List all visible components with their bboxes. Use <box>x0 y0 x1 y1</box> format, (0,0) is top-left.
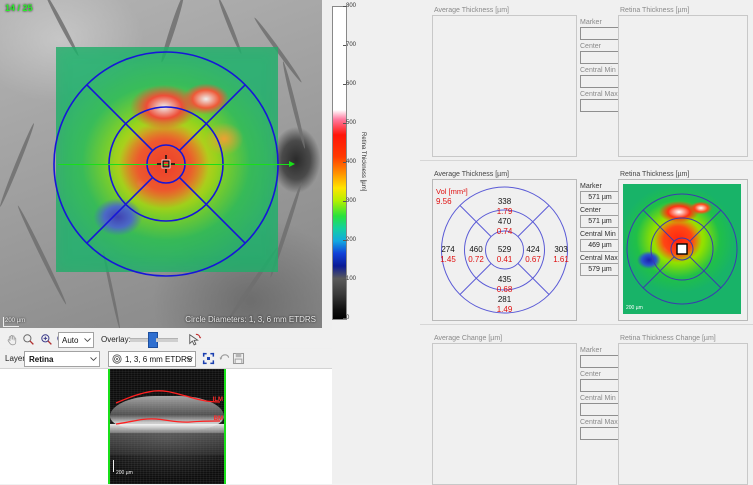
sector-inner-superior-volume: 0.74 <box>497 227 513 236</box>
central-min-label-bottom: Central Min <box>580 395 616 402</box>
avg-thickness-title-top: Average Thickness [µm] <box>432 7 511 14</box>
circle-diameters-caption: Circle Diameters: 1, 3, 6 mm ETDRS <box>185 315 316 324</box>
pointer-tool-icon[interactable] <box>188 333 202 347</box>
colorbar-tick: 500 <box>346 120 356 126</box>
central-min-label: Central Min <box>580 231 616 238</box>
grid-select[interactable]: 1, 3, 6 mm ETDRS <box>108 351 196 367</box>
bm-label: BM <box>214 416 223 422</box>
chevron-down-icon[interactable] <box>186 356 193 362</box>
magnifier-icon[interactable] <box>22 333 35 346</box>
undo-icon[interactable] <box>218 352 231 365</box>
bscan-area: ILM BM 200 µm <box>0 368 332 484</box>
central-max-label: Central Max <box>580 255 618 262</box>
colorbar-title: Retina Thickness [µm] <box>360 132 366 191</box>
etdrs-grid-chart: 338 1.79 470 0.74 274 1.45 460 0.72 529 … <box>433 180 576 320</box>
sector-outer-nasal-volume: 1.61 <box>553 255 569 264</box>
central-max-label-top: Central Max <box>580 91 618 98</box>
chevron-down-icon[interactable] <box>90 356 97 362</box>
volume-label: Vol [mm³] <box>436 187 468 196</box>
marker-field-bottom[interactable] <box>580 355 620 368</box>
sector-inner-temporal-thickness: 460 <box>469 245 483 254</box>
minimap-center-marker <box>677 244 687 254</box>
ilm-label: ILM <box>213 397 223 403</box>
sector-inner-nasal-volume: 0.67 <box>525 255 541 264</box>
avg-change-box <box>432 343 577 485</box>
colorbar: 800 700 600 500 400 300 200 100 0 Retina… <box>330 4 382 326</box>
retina-change-box <box>618 343 748 485</box>
center-field-bottom[interactable] <box>580 379 620 392</box>
fundus-scale-bar: 200 µm <box>5 318 25 324</box>
center-label-bottom: Center <box>580 371 601 378</box>
central-min-field-bottom[interactable] <box>580 403 620 416</box>
bm-line <box>116 419 220 424</box>
layer-value: Retina <box>29 355 53 364</box>
sector-inner-inferior-volume: 0.68 <box>497 285 513 294</box>
retina-thickness-title-top: Retina Thickness [µm] <box>618 7 691 14</box>
overlay-label: Overlay: <box>101 335 131 344</box>
section-divider <box>420 160 753 161</box>
right-panel: Average Thickness [µm] Marker Center Cen… <box>420 0 753 483</box>
colorbar-tick: 0 <box>346 315 349 321</box>
sector-center-thickness: 529 <box>498 245 512 254</box>
central-min-field-top[interactable] <box>580 75 620 88</box>
ilm-line <box>116 391 220 403</box>
central-max-field-bottom[interactable] <box>580 427 620 440</box>
center-label: Center <box>580 207 601 214</box>
retina-thickness-box[interactable]: 200 µm <box>618 179 748 321</box>
colorbar-gradient <box>332 6 347 320</box>
fundus-thickness-map-viewport[interactable]: 14 / 25 Circle Diameters: 1, 3, 6 mm ETD… <box>0 0 322 328</box>
sector-outer-superior-thickness: 338 <box>498 197 512 206</box>
sector-center-volume: 0.41 <box>497 255 513 264</box>
bscan-right-marker <box>224 369 226 484</box>
colorbar-tick: 300 <box>346 198 356 204</box>
center-label-top: Center <box>580 43 601 50</box>
colorbar-tick: 100 <box>346 276 356 282</box>
sector-inner-nasal-thickness: 424 <box>526 245 540 254</box>
center-grid-icon[interactable] <box>202 352 215 365</box>
retina-thickness-minimap[interactable]: 200 µm <box>623 184 741 314</box>
avg-thickness-box-top <box>432 15 577 157</box>
chevron-down-icon[interactable] <box>84 337 91 343</box>
sector-inner-superior-thickness: 470 <box>498 217 512 226</box>
retina-change-title: Retina Thickness Change [µm] <box>618 335 718 342</box>
retina-thickness-box-top <box>618 15 748 157</box>
sector-outer-nasal-thickness: 303 <box>554 245 568 254</box>
layer-toolbar: Layer: Retina 1, 3, 6 mm ETDRS <box>0 349 332 367</box>
sector-outer-inferior-thickness: 281 <box>498 295 512 304</box>
minimap-scale-bar: 200 µm <box>626 305 643 311</box>
colorbar-tick: 600 <box>346 81 356 87</box>
colorbar-tick: 700 <box>346 42 356 48</box>
oct-bscan-image[interactable]: ILM BM 200 µm <box>110 369 224 484</box>
marker-field-top[interactable] <box>580 27 620 40</box>
minimap-etdrs-overlay <box>623 184 741 314</box>
zoom-mode-select[interactable]: Auto <box>58 332 94 348</box>
colorbar-tick: 400 <box>346 159 356 165</box>
marker-field[interactable]: 571 µm <box>580 191 620 204</box>
grid-value: 1, 3, 6 mm ETDRS <box>125 355 192 364</box>
avg-thickness-box[interactable]: 338 1.79 470 0.74 274 1.45 460 0.72 529 … <box>432 179 577 321</box>
central-max-field[interactable]: 579 µm <box>580 263 620 276</box>
bscan-left-marker <box>108 369 110 484</box>
center-field-top[interactable] <box>580 51 620 64</box>
sector-outer-superior-volume: 1.79 <box>497 207 513 216</box>
central-max-field-top[interactable] <box>580 99 620 112</box>
left-panel: 14 / 25 Circle Diameters: 1, 3, 6 mm ETD… <box>0 0 332 483</box>
sector-outer-inferior-volume: 1.49 <box>497 305 513 314</box>
etdrs-spoke <box>87 85 153 151</box>
layer-select[interactable]: Retina <box>24 351 100 367</box>
view-toolbar: Auto Overlay: <box>0 330 332 348</box>
avg-thickness-title: Average Thickness [µm] <box>432 171 511 178</box>
marker-label: Marker <box>580 183 602 190</box>
sector-outer-temporal-thickness: 274 <box>441 245 455 254</box>
colorbar-tick: 200 <box>346 237 356 243</box>
oct-analysis-window: 14 / 25 Circle Diameters: 1, 3, 6 mm ETD… <box>0 0 753 483</box>
marker-label-bottom: Marker <box>580 347 602 354</box>
etdrs-spoke <box>179 177 245 243</box>
zoom-in-icon[interactable] <box>40 333 53 346</box>
central-max-label-bottom: Central Max <box>580 419 618 426</box>
section-divider <box>420 324 753 325</box>
etdrs-spoke <box>87 177 153 243</box>
central-min-label-top: Central Min <box>580 67 616 74</box>
retina-thickness-title: Retina Thickness [µm] <box>618 171 691 178</box>
avg-change-title: Average Change [µm] <box>432 335 504 342</box>
frame-counter: 14 / 25 <box>5 3 33 13</box>
marker-label-top: Marker <box>580 19 602 26</box>
volume-value: 9.56 <box>436 197 452 206</box>
bscan-segmentation-lines <box>110 369 224 484</box>
bscan-scale-bar: 200 µm <box>116 470 133 476</box>
sector-outer-temporal-volume: 1.45 <box>440 255 456 264</box>
center-marker-icon[interactable] <box>157 155 175 173</box>
sector-inner-inferior-thickness: 435 <box>498 275 512 284</box>
hand-icon[interactable] <box>6 333 19 346</box>
etdrs-grid-icon <box>112 354 122 364</box>
zoom-mode-value: Auto <box>62 336 78 345</box>
center-field[interactable]: 571 µm <box>580 215 620 228</box>
colorbar-tick: 800 <box>346 3 356 9</box>
sector-inner-temporal-volume: 0.72 <box>468 255 484 264</box>
central-min-field[interactable]: 469 µm <box>580 239 620 252</box>
overlay-slider-track-right[interactable] <box>156 338 178 342</box>
save-icon[interactable] <box>232 352 245 365</box>
etdrs-spoke <box>179 85 245 151</box>
